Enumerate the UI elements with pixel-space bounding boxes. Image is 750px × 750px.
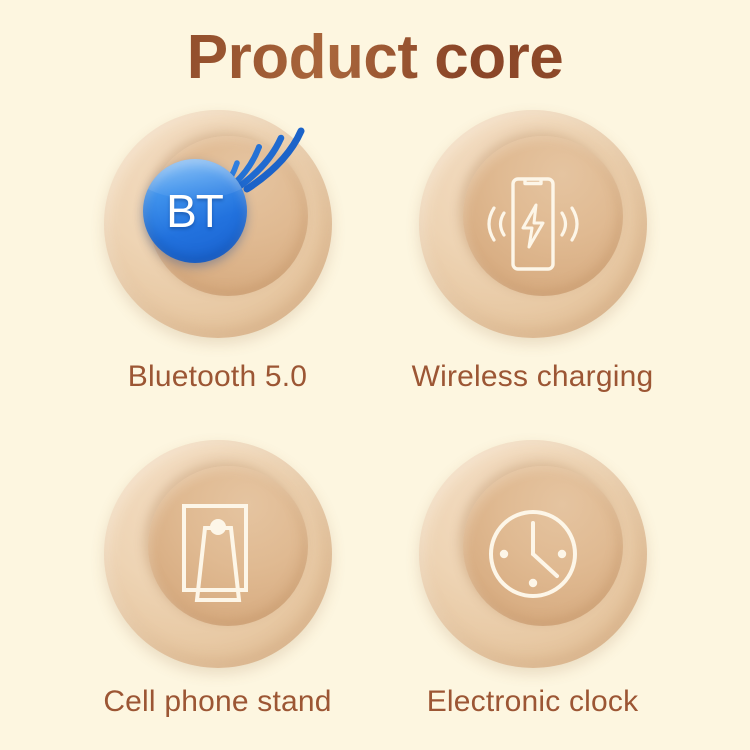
feature-label-wireless-charging: Wireless charging xyxy=(345,360,720,394)
medallion-disc xyxy=(419,110,647,338)
bluetooth-badge-circle: BT xyxy=(143,159,247,263)
cell-phone-stand-icon xyxy=(170,500,266,608)
feature-label-electronic-clock: Electronic clock xyxy=(345,685,720,719)
electronic-clock-icon xyxy=(485,506,581,602)
bluetooth-badge-label: BT xyxy=(166,188,223,234)
bluetooth-bt-badge-icon: BT xyxy=(143,149,293,299)
medallion-disc xyxy=(419,440,647,668)
feature-grid: BT Bluetooth 5.0 xyxy=(0,110,750,750)
page-title: Product core xyxy=(0,22,750,93)
phone-stand-glyph xyxy=(170,500,266,608)
feature-card-wireless-charging[interactable]: Wireless charging xyxy=(345,110,720,410)
wireless-charging-phone-icon xyxy=(473,169,593,279)
product-core-infographic: Product core B xyxy=(0,0,750,750)
medallion-disc xyxy=(104,440,332,668)
medallion-disc: BT xyxy=(104,110,332,338)
wireless-charging-glyph xyxy=(473,169,593,279)
clock-glyph xyxy=(485,506,581,602)
feature-card-electronic-clock[interactable]: Electronic clock xyxy=(345,440,720,740)
stand-hinge-knob-icon xyxy=(210,519,226,535)
